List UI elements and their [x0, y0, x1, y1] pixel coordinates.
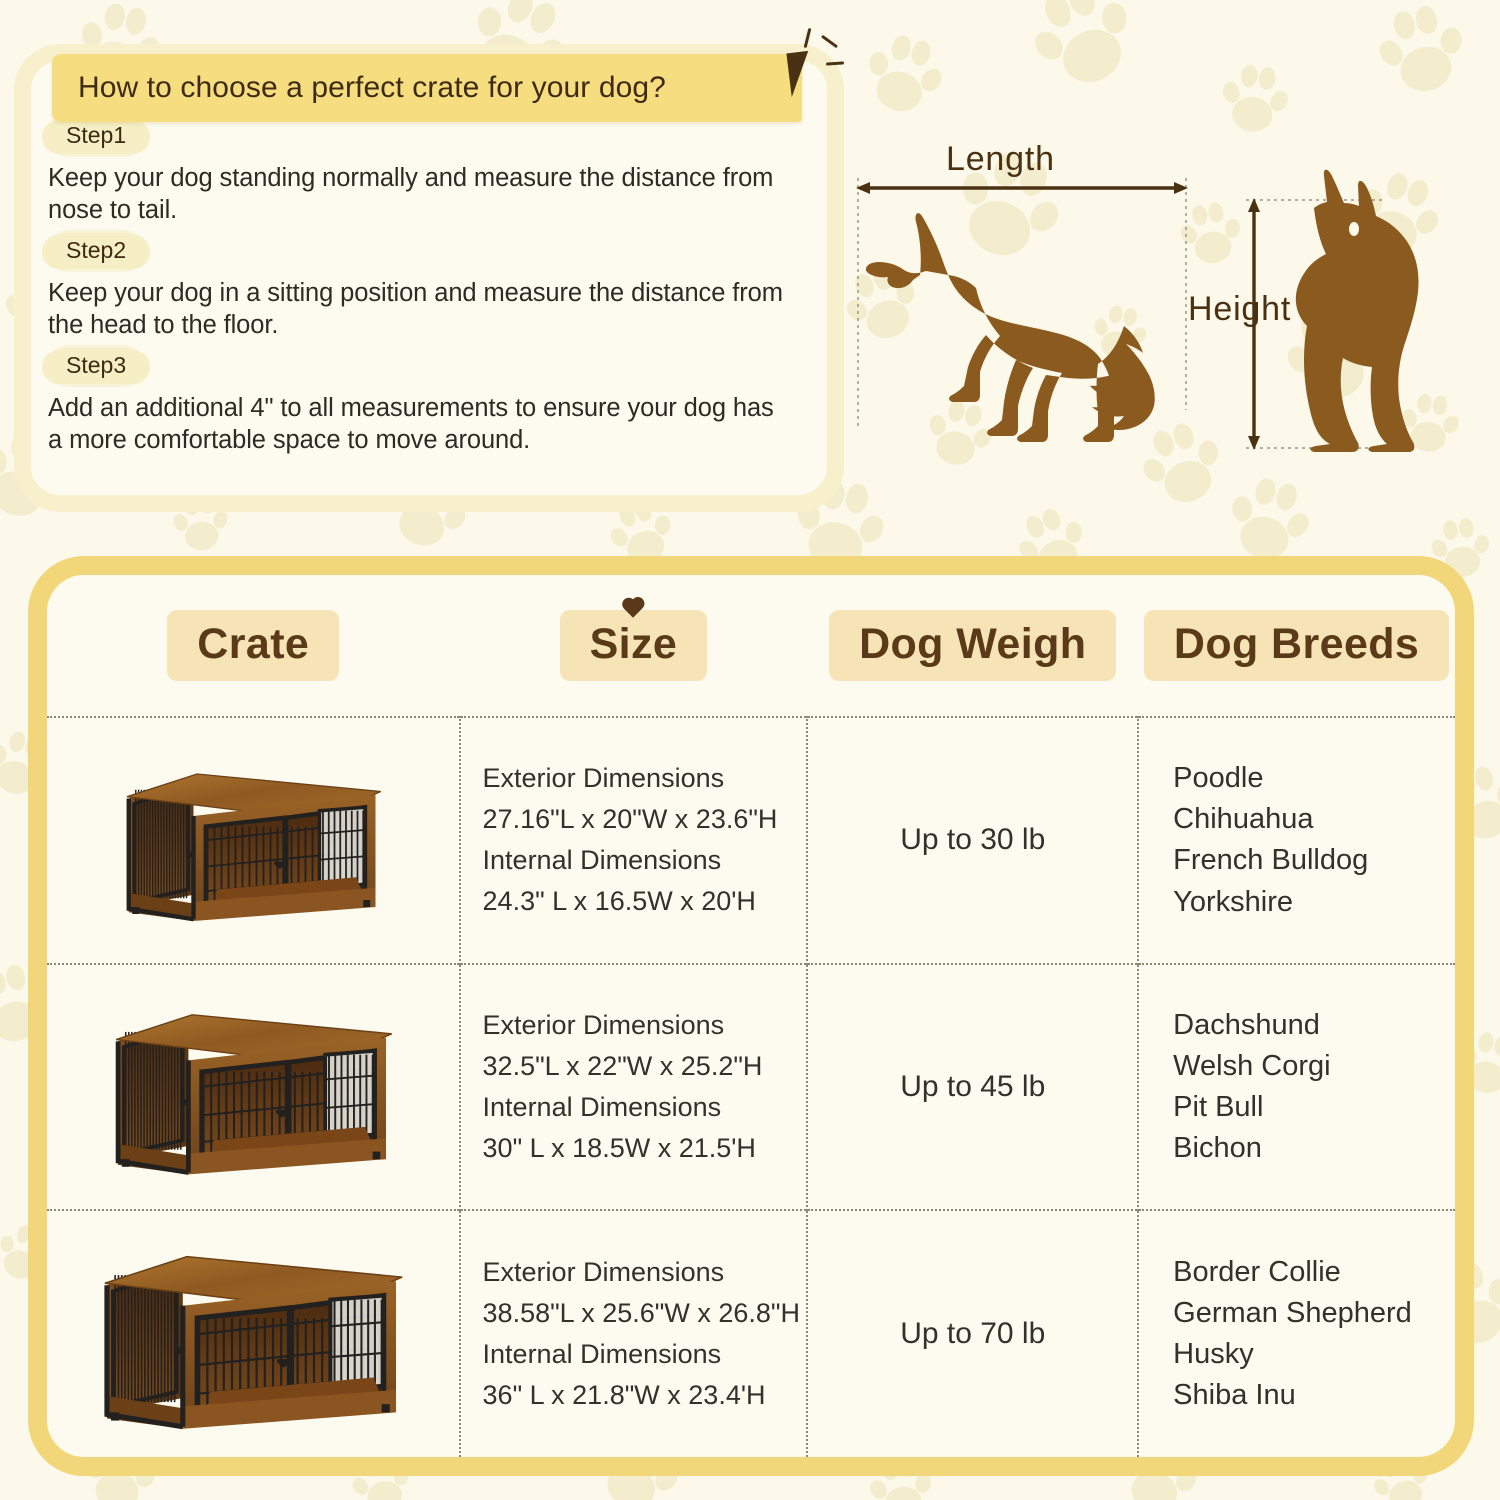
breed-item: Pit Bull	[1173, 1087, 1455, 1128]
header-pill-breeds: Dog Breeds	[1144, 610, 1449, 681]
weight-cell: Up to 70 lb	[807, 1210, 1138, 1457]
breeds-cell: DachshundWelsh CorgiPit BullBichon	[1138, 964, 1455, 1211]
breed-item: French Bulldog	[1173, 840, 1455, 881]
dog-measurement-diagram: Length Height	[846, 130, 1486, 480]
internal-dimensions-label: Internal Dimensions	[483, 1334, 807, 1375]
breed-item: Border Collie	[1173, 1252, 1455, 1293]
length-arrow-icon	[856, 182, 1188, 194]
internal-dimensions-label: Internal Dimensions	[483, 1087, 807, 1128]
exterior-dimensions-value: 38.58"L x 25.6"W x 26.8"H	[483, 1293, 807, 1334]
exterior-dimensions-label: Exterior Dimensions	[483, 1005, 807, 1046]
small-rustic-brown-dog-crate-furniture	[103, 753, 403, 928]
breed-item: Bichon	[1173, 1128, 1455, 1169]
exterior-dimensions-value: 32.5"L x 22"W x 25.2"H	[483, 1046, 807, 1087]
crate-size-table: Crate Size Dog Weigh Dog Breeds	[28, 556, 1474, 1476]
step-badge: Step1	[50, 118, 142, 154]
step-text: Add an additional 4" to all measurements…	[48, 392, 790, 457]
step-text: Keep your dog in a sitting position and …	[48, 277, 790, 342]
header-pill-size: Size	[560, 610, 708, 681]
header-pill-crate: Crate	[167, 610, 339, 681]
breed-item: Welsh Corgi	[1173, 1046, 1455, 1087]
weight-cell: Up to 45 lb	[807, 964, 1138, 1211]
page-title: How to choose a perfect crate for your d…	[78, 71, 666, 105]
height-label: Height	[1188, 290, 1291, 329]
size-cell: Exterior Dimensions27.16"L x 20"W x 23.6…	[460, 717, 808, 964]
guide-banner: How to choose a perfect crate for your d…	[52, 54, 802, 122]
breed-item: German Shepherd	[1173, 1293, 1455, 1334]
sparkle-icon	[821, 35, 838, 49]
exterior-dimensions-label: Exterior Dimensions	[483, 758, 807, 799]
large-rustic-brown-dog-crate-furniture	[80, 1232, 425, 1437]
step-item: Step1 Keep your dog standing normally an…	[48, 118, 790, 227]
internal-dimensions-value: 36" L x 21.8"W x 23.4'H	[483, 1375, 807, 1416]
standing-dog-silhouette	[866, 213, 1155, 442]
exterior-dimensions-label: Exterior Dimensions	[483, 1252, 807, 1293]
size-cell: Exterior Dimensions32.5"L x 22"W x 25.2"…	[460, 964, 808, 1211]
step-text: Keep your dog standing normally and meas…	[48, 162, 790, 227]
step-item: Step3 Add an additional 4" to all measur…	[48, 348, 790, 457]
internal-dimensions-value: 24.3" L x 16.5W x 20'H	[483, 881, 807, 922]
column-header-crate: Crate	[47, 575, 460, 717]
header-pill-weight: Dog Weigh	[829, 610, 1116, 681]
guide-section: How to choose a perfect crate for your d…	[0, 0, 1500, 545]
table-row: Exterior Dimensions32.5"L x 22"W x 25.2"…	[47, 964, 1455, 1211]
crate-image-cell	[47, 1210, 460, 1457]
breed-item: Husky	[1173, 1334, 1455, 1375]
internal-dimensions-label: Internal Dimensions	[483, 840, 807, 881]
internal-dimensions-value: 30" L x 18.5W x 21.5'H	[483, 1128, 807, 1169]
size-cell: Exterior Dimensions38.58"L x 25.6"W x 26…	[460, 1210, 808, 1457]
column-header-size: Size	[460, 575, 808, 717]
steps-list: Step1 Keep your dog standing normally an…	[48, 112, 790, 456]
length-label: Length	[946, 140, 1055, 179]
column-header-breeds: Dog Breeds	[1138, 575, 1455, 717]
crate-image-cell	[47, 964, 460, 1211]
breed-item: Chihuahua	[1173, 799, 1455, 840]
crate-image-cell	[47, 717, 460, 964]
column-header-weight: Dog Weigh	[807, 575, 1138, 717]
table-row: Exterior Dimensions27.16"L x 20"W x 23.6…	[47, 717, 1455, 964]
breed-item: Dachshund	[1173, 1005, 1455, 1046]
sparkle-icon	[826, 61, 844, 65]
step-badge: Step3	[50, 348, 142, 384]
sitting-dog-silhouette	[1296, 170, 1419, 452]
breeds-cell: Border CollieGerman ShepherdHuskyShiba I…	[1138, 1210, 1455, 1457]
medium-rustic-brown-dog-crate-furniture	[93, 992, 413, 1182]
breed-item: Poodle	[1173, 758, 1455, 799]
exterior-dimensions-value: 27.16"L x 20"W x 23.6"H	[483, 799, 807, 840]
table-row: Exterior Dimensions38.58"L x 25.6"W x 26…	[47, 1210, 1455, 1457]
table-header-row: Crate Size Dog Weigh Dog Breeds	[47, 575, 1455, 717]
heart-icon	[624, 599, 642, 617]
breed-item: Yorkshire	[1173, 882, 1455, 923]
step-item: Step2 Keep your dog in a sitting positio…	[48, 233, 790, 342]
breed-item: Shiba Inu	[1173, 1375, 1455, 1416]
step-badge: Step2	[50, 233, 142, 269]
breeds-cell: PoodleChihuahuaFrench BulldogYorkshire	[1138, 717, 1455, 964]
weight-cell: Up to 30 lb	[807, 717, 1138, 964]
